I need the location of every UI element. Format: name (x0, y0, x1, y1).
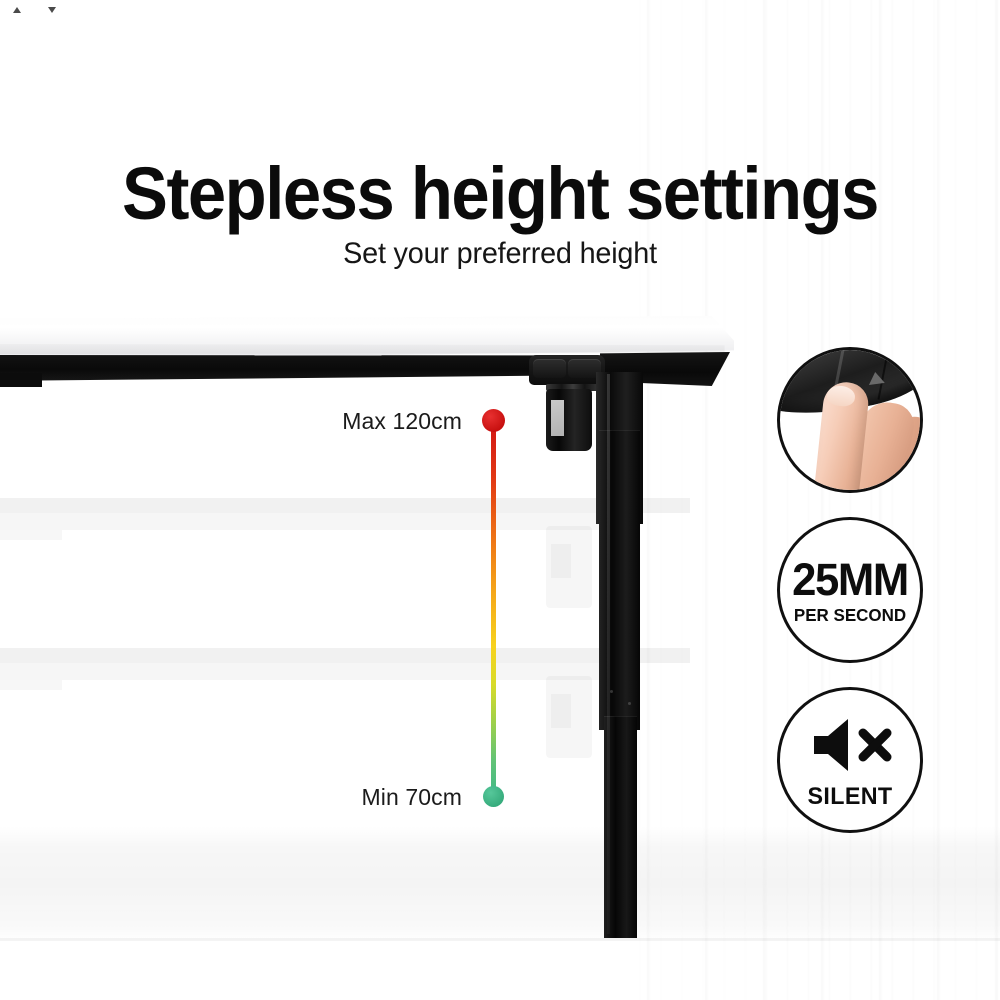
arrow-down-icon (48, 7, 56, 13)
max-height-marker-dot (482, 409, 505, 432)
desk-frame-step (0, 373, 42, 387)
min-height-label: Min 70cm (200, 784, 462, 811)
column-screw-a (610, 690, 613, 693)
product-feature-graphic: Stepless height settings Set your prefer… (0, 0, 1000, 1000)
height-range-gradient-bar (491, 420, 496, 798)
speed-unit: PER SECOND (782, 605, 918, 625)
column-seam-lower (604, 716, 637, 717)
column-segment-middle (599, 430, 640, 730)
min-height-marker-dot (483, 786, 504, 807)
speed-value: 25MM (782, 556, 918, 604)
motor-spec-label (551, 400, 564, 436)
control-button-up[interactable] (533, 359, 566, 378)
max-height-label: Max 120cm (200, 408, 462, 435)
column-screw-b (628, 702, 631, 705)
badge-one-touch-control (777, 347, 923, 493)
column-seam-upper (599, 430, 640, 431)
arrow-up-icon (13, 7, 21, 13)
desk-control-panel[interactable] (529, 355, 605, 385)
muted-speaker-icon (810, 716, 896, 774)
badge-speed: 25MM PER SECOND (777, 517, 923, 663)
standing-desk (0, 0, 760, 1000)
silent-label: SILENT (782, 783, 918, 811)
column-highlight (607, 374, 610, 934)
paddle-up-arrow-icon (867, 371, 885, 385)
desk-top-edge (0, 344, 732, 354)
badge-silent: SILENT (777, 687, 923, 833)
